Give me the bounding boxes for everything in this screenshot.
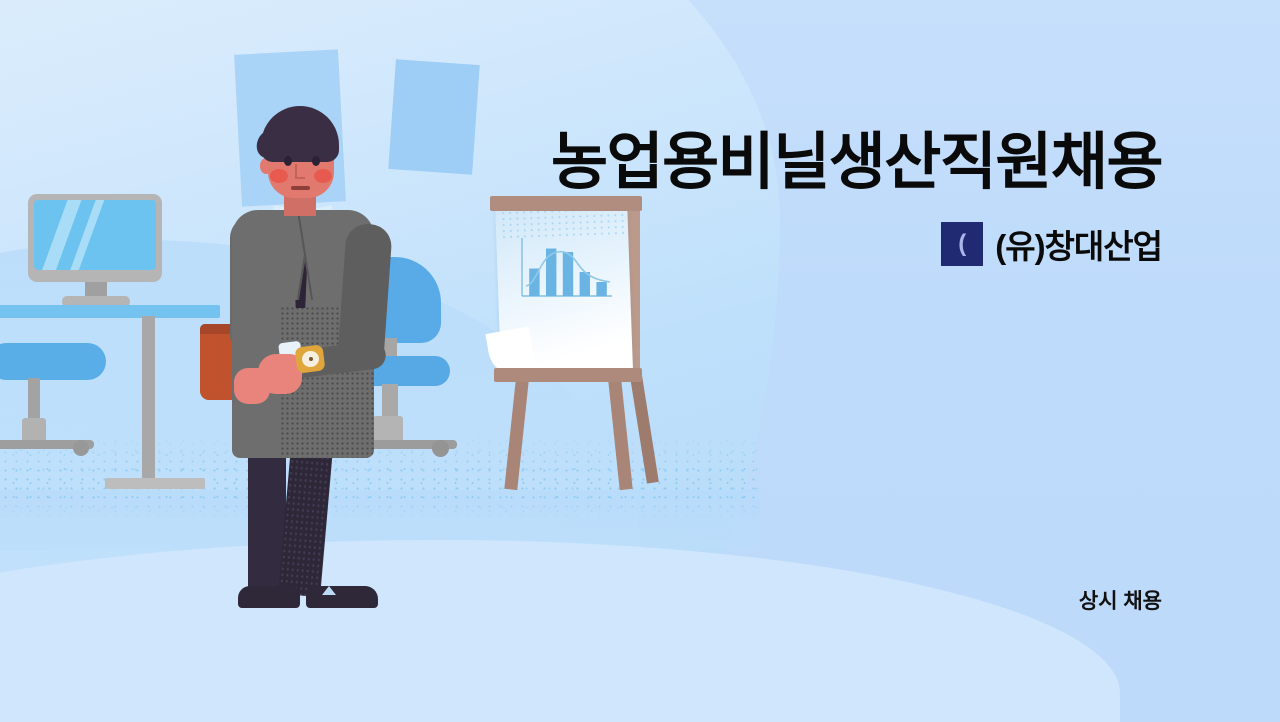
- desk-top: [0, 305, 220, 318]
- bar-chart-graphic: [518, 238, 614, 300]
- eye-left: [284, 156, 292, 166]
- eye-right: [312, 156, 320, 166]
- shoe-right: [306, 586, 378, 608]
- hand-holding-briefcase: [234, 368, 270, 404]
- trouser-texture: [278, 434, 334, 597]
- recruitment-status-label: 상시 채용: [1079, 585, 1162, 615]
- office-chair-front-seat: [0, 343, 106, 380]
- easel-tray: [494, 368, 642, 382]
- office-chair-front-wheel: [73, 440, 89, 456]
- job-posting-poster: 농업용비닐생산직원채용 ( (유)창대산업 상시 채용: [0, 0, 1280, 722]
- company-name: (유)창대산업: [995, 220, 1162, 268]
- cheek-left: [270, 169, 288, 183]
- wristwatch-dial-dot: [309, 357, 313, 361]
- businessman-illustration: [196, 106, 436, 616]
- desk-leg: [142, 316, 155, 482]
- nose: [295, 164, 305, 179]
- company-logo-badge: (: [941, 222, 983, 266]
- shoe-left: [238, 586, 300, 608]
- monitor-screen: [34, 200, 156, 270]
- eyebrow-right: [309, 149, 323, 152]
- eyebrow-left: [281, 149, 295, 152]
- cheek-right: [314, 169, 332, 183]
- chart-bars: [529, 249, 607, 297]
- desk-foot: [105, 478, 205, 489]
- chart-bar: [596, 282, 606, 296]
- page-title: 농업용비닐생산직원채용: [551, 132, 1162, 194]
- easel-top-bar: [490, 196, 642, 211]
- company-row: ( (유)창대산업: [941, 220, 1162, 268]
- chart-bar: [546, 249, 556, 297]
- chart-bar: [563, 252, 573, 296]
- mouth: [291, 186, 310, 190]
